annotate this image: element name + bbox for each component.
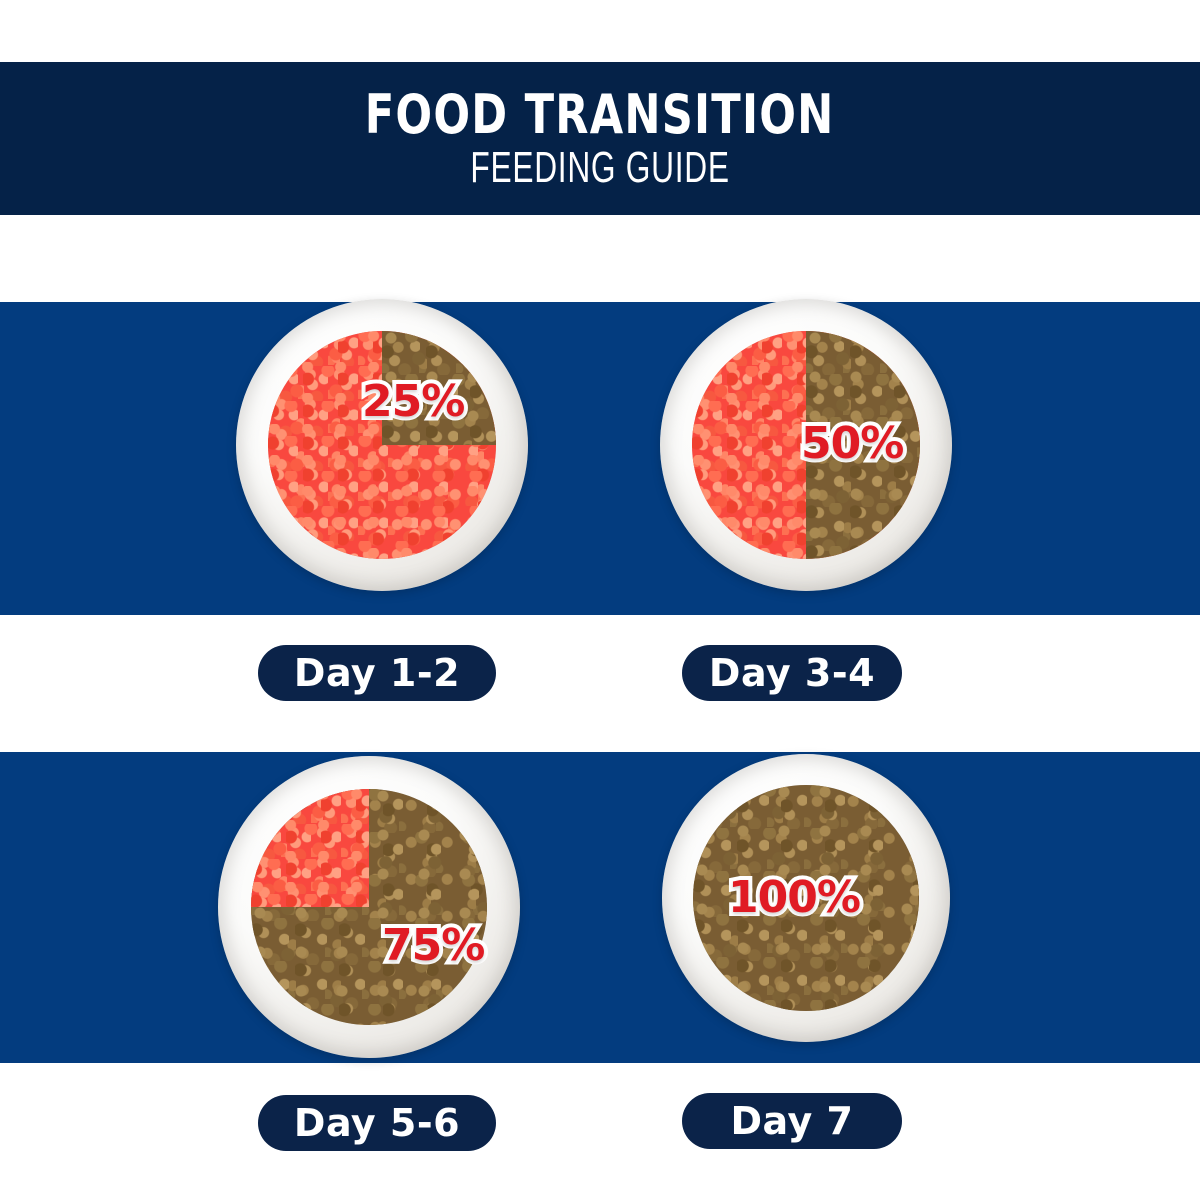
background-band-row-2 [0,752,1200,1063]
page-subtitle: FEEDING GUIDE [470,146,729,191]
percent-label-day-7: 100% [728,876,860,920]
old-food-portion [251,789,369,907]
food-mix-day-5-6 [251,789,487,1025]
day-label-day-3-4[interactable]: Day 3-4 [682,645,902,701]
day-label-day-5-6[interactable]: Day 5-6 [258,1095,496,1151]
page-title: FOOD TRANSITION [365,87,835,142]
step-card-day-7: 100% [648,740,964,1056]
bowl-day-3-4: 50% [646,285,966,605]
bowl-day-1-2: 25% [222,285,542,605]
percent-label-day-3-4: 50% [801,422,903,466]
bowl-dish [236,299,528,591]
bowl-dish [218,756,520,1058]
bowl-day-7: 100% [648,740,964,1056]
bowl-day-5-6: 75% [204,742,534,1072]
day-label-day-7[interactable]: Day 7 [682,1093,902,1149]
step-card-day-5-6: 75% [204,742,534,1072]
percent-label-day-1-2: 25% [362,380,464,424]
step-card-day-1-2: 25% [222,285,542,605]
infographic-canvas: FOOD TRANSITION FEEDING GUIDE 25% Day 1-… [0,0,1200,1200]
day-label-day-1-2[interactable]: Day 1-2 [258,645,496,701]
header-banner: FOOD TRANSITION FEEDING GUIDE [0,62,1200,215]
percent-label-day-5-6: 75% [382,924,484,968]
food-mix-day-1-2 [268,331,496,559]
background-band-row-1 [0,302,1200,615]
step-card-day-3-4: 50% [646,285,966,605]
